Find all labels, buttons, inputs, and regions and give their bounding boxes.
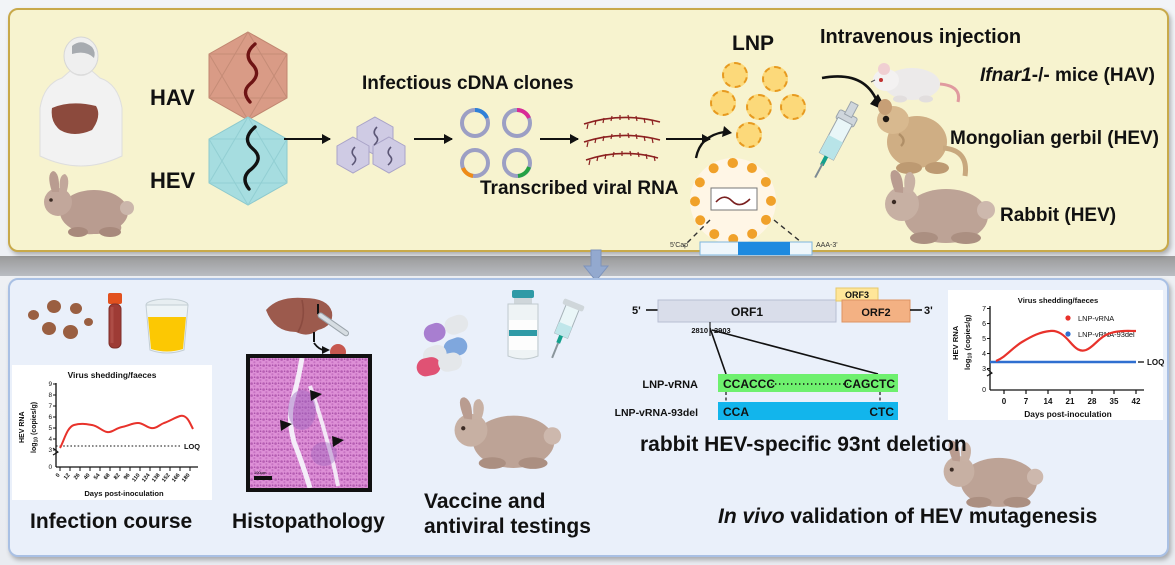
in-vivo-italic: In vivo bbox=[718, 505, 785, 528]
orf1-label: ORF1 bbox=[731, 305, 763, 319]
lnp-particle bbox=[762, 66, 788, 92]
lnp-particle bbox=[780, 94, 806, 120]
chart-ylabel-right-line1: HEV RNA bbox=[951, 325, 960, 360]
chart-xlabel-right: Days post-inoculation bbox=[1024, 409, 1111, 419]
blood-tube-icon bbox=[104, 293, 126, 353]
cdna-clones-label: Infectious cDNA clones bbox=[362, 73, 574, 95]
svg-text:42: 42 bbox=[1132, 397, 1141, 406]
chart-ylabel-left-line1: HEV RNA bbox=[19, 411, 26, 443]
lnp-vrna-row-label: LNP-vRNA bbox=[642, 379, 698, 391]
seq-row2-left: CCA bbox=[723, 405, 749, 419]
human-figure-icon bbox=[26, 38, 136, 168]
chart-ylabel-right-line2: log10 (copies/g) bbox=[963, 314, 974, 370]
lnp-particle bbox=[746, 94, 772, 120]
rabbit-icon-vaccine bbox=[440, 395, 564, 475]
rabbit-icon-hev bbox=[32, 168, 138, 240]
mutagenesis-validation-chart: Virus shedding/faeces 7 6 5 4 3 0 HEV RN… bbox=[948, 290, 1163, 420]
orf3-label: ORF3 bbox=[845, 290, 869, 300]
chart-title-right: Virus shedding/faeces bbox=[1018, 296, 1098, 305]
chart-title-left: Virus shedding/faeces bbox=[68, 370, 157, 380]
histopathology-image: 100µm bbox=[246, 354, 372, 492]
polya-tail-label: AAA-3' bbox=[816, 242, 838, 249]
syringe-icon bbox=[805, 106, 861, 182]
mice-label: Ifnar1-/- mice (HAV) bbox=[980, 65, 1155, 87]
svg-text:0: 0 bbox=[48, 464, 52, 471]
svg-text:0: 0 bbox=[55, 473, 62, 479]
chart-xlabel-left: Days post-inoculation bbox=[84, 489, 164, 498]
svg-text:82: 82 bbox=[113, 473, 122, 482]
arrow-plasmid-to-rna bbox=[540, 138, 578, 140]
hav-label: HAV bbox=[150, 85, 195, 111]
validation-rest: validation of HEV mutagenesis bbox=[785, 505, 1098, 528]
hev-capsid-icon bbox=[205, 115, 291, 207]
caption-histopathology: Histopathology bbox=[232, 510, 385, 534]
svg-text:0: 0 bbox=[1002, 397, 1007, 406]
svg-text:152: 152 bbox=[161, 473, 171, 484]
svg-text:5: 5 bbox=[982, 336, 986, 343]
svg-text:21: 21 bbox=[1066, 397, 1075, 406]
liver-biopsy-icon bbox=[262, 288, 354, 358]
svg-text:9: 9 bbox=[48, 381, 52, 388]
svg-text:26: 26 bbox=[73, 473, 82, 482]
chart-series-left-faecal bbox=[60, 416, 193, 448]
plasmid-green bbox=[502, 148, 532, 178]
mice-gene-name: Ifnar1 bbox=[980, 65, 1032, 86]
histo-scalebar-label: 100µm bbox=[254, 470, 267, 475]
viral-rna-strands-icon bbox=[582, 110, 662, 176]
svg-text:4: 4 bbox=[982, 351, 986, 358]
svg-text:54: 54 bbox=[93, 472, 102, 481]
gerbil-label: Mongolian gerbil (HEV) bbox=[950, 128, 1159, 150]
arrow-capsid-to-cdna bbox=[284, 138, 330, 140]
plasmid-magenta bbox=[502, 108, 532, 138]
svg-text:124: 124 bbox=[141, 472, 152, 484]
plasmid-orange bbox=[460, 148, 490, 178]
intravenous-injection-label: Intravenous injection bbox=[820, 26, 1021, 49]
figure-canvas: HAV HEV Infectious cDNA clones bbox=[0, 0, 1175, 565]
seq-row2-right: CTC bbox=[869, 405, 894, 419]
transcribed-rna-label: Transcribed viral RNA bbox=[480, 178, 679, 200]
hev-genome-diagram: 5' ORF1 ORF3 ORF2 3' 2810 2903 LNP-vRNA … bbox=[630, 288, 940, 418]
rabbit-icon-large bbox=[870, 170, 998, 248]
svg-text:7: 7 bbox=[48, 403, 52, 410]
svg-text:35: 35 bbox=[1110, 397, 1119, 406]
svg-text:138: 138 bbox=[151, 473, 161, 484]
orf2-label: ORF2 bbox=[861, 307, 890, 319]
svg-text:5: 5 bbox=[48, 425, 52, 432]
svg-text:166: 166 bbox=[171, 473, 181, 484]
caption-infection-course: Infection course bbox=[30, 510, 192, 534]
lnp-particle bbox=[710, 90, 736, 116]
five-prime-label: 5' bbox=[632, 305, 641, 317]
svg-text:7: 7 bbox=[1024, 397, 1029, 406]
arrow-rna-into-lnp bbox=[694, 122, 734, 160]
urine-cup-icon bbox=[143, 298, 191, 354]
rabbit-label: Rabbit (HEV) bbox=[1000, 205, 1116, 227]
loq-label-left: LOQ bbox=[184, 442, 200, 451]
svg-text:7: 7 bbox=[982, 306, 986, 313]
hev-label: HEV bbox=[150, 168, 195, 194]
svg-text:3: 3 bbox=[982, 366, 986, 373]
svg-text:68: 68 bbox=[103, 473, 112, 482]
hav-capsid-icon bbox=[205, 30, 291, 122]
svg-text:6: 6 bbox=[982, 321, 986, 328]
lnp-particle bbox=[736, 122, 762, 148]
infection-course-chart: Virus shedding/faeces 9 8 7 6 5 4 3 0 HE… bbox=[12, 365, 212, 500]
svg-text:180: 180 bbox=[181, 473, 191, 484]
five-prime-cap-label: 5'Cap bbox=[670, 242, 688, 249]
svg-text:8: 8 bbox=[48, 392, 52, 399]
mice-label-rest: -/- mice (HAV) bbox=[1032, 65, 1155, 86]
top-panel-workflow: HAV HEV Infectious cDNA clones bbox=[8, 8, 1169, 252]
lnp-vrna-93del-row-label: LNP-vRNA-93del bbox=[615, 407, 699, 419]
loq-label-right: LOQ bbox=[1147, 358, 1164, 367]
vaccine-vial-icon bbox=[498, 290, 548, 362]
svg-text:14: 14 bbox=[1044, 397, 1053, 406]
svg-text:4: 4 bbox=[48, 436, 52, 443]
svg-text:28: 28 bbox=[1088, 397, 1097, 406]
caption-vaccine-line1: Vaccine and bbox=[424, 490, 545, 514]
chart-ylabel-left-line2: log10 (copies/g) bbox=[31, 402, 40, 453]
svg-text:12: 12 bbox=[63, 473, 72, 482]
legend-lnp-vrna: LNP-vRNA bbox=[1078, 314, 1114, 323]
mrna-construct-bar bbox=[700, 242, 812, 255]
capsid-cluster-icon bbox=[335, 115, 409, 175]
svg-text:6: 6 bbox=[48, 414, 52, 421]
lnp-particle bbox=[722, 62, 748, 88]
svg-text:110: 110 bbox=[131, 473, 141, 484]
plasmid-blue bbox=[460, 108, 490, 138]
encapsulated-mrna-icon bbox=[710, 186, 758, 212]
svg-text:0: 0 bbox=[982, 387, 986, 394]
lnp-label: LNP bbox=[732, 32, 774, 56]
svg-text:40: 40 bbox=[83, 473, 92, 482]
three-prime-label: 3' bbox=[924, 305, 933, 317]
vaccine-syringe-icon bbox=[546, 300, 580, 362]
genome-position-start: 2810 bbox=[691, 326, 708, 335]
caption-in-vivo-validation: In vivo validation of HEV mutagenesis bbox=[718, 505, 1097, 529]
caption-93nt-deletion: rabbit HEV-specific 93nt deletion bbox=[640, 433, 967, 457]
svg-text:3: 3 bbox=[48, 447, 52, 454]
caption-vaccine-line2: antiviral testings bbox=[424, 515, 591, 539]
seq-row1-right: CAGCTC bbox=[844, 377, 896, 391]
arrow-capsid-to-plasmid bbox=[414, 138, 452, 140]
